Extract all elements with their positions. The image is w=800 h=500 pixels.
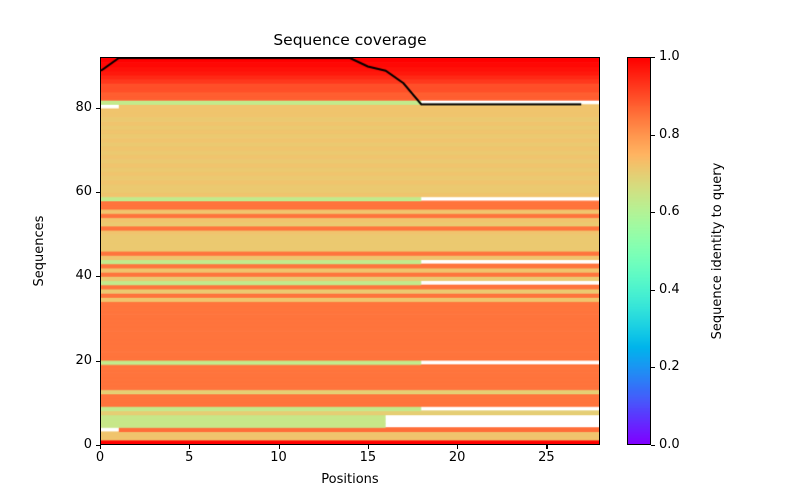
x-tick-mark (546, 445, 547, 449)
y-tick-label: 0 (56, 437, 92, 453)
x-tick-mark (457, 445, 458, 449)
x-tick-label: 20 (437, 450, 477, 466)
page-title: Sequence coverage (100, 30, 600, 50)
colorbar-tick-label: 0.4 (659, 282, 680, 298)
colorbar-tick-mark (651, 57, 655, 58)
x-tick-mark (368, 445, 369, 449)
y-tick-mark (96, 276, 100, 277)
y-tick-mark (96, 361, 100, 362)
x-tick-mark (279, 445, 280, 449)
colorbar-gradient (628, 58, 650, 444)
x-tick-label: 10 (259, 450, 299, 466)
y-axis-label: Sequences (32, 57, 48, 445)
colorbar-label: Sequence identity to query (710, 57, 726, 445)
colorbar-tick-label: 0.0 (659, 437, 680, 453)
colorbar-tick-label: 1.0 (659, 49, 680, 65)
x-tick-label: 15 (348, 450, 388, 466)
colorbar (627, 57, 651, 445)
y-tick-mark (96, 192, 100, 193)
colorbar-tick-mark (651, 290, 655, 291)
y-tick-mark (96, 445, 100, 446)
x-tick-label: 5 (169, 450, 209, 466)
x-tick-mark (189, 445, 190, 449)
coverage-line (101, 58, 599, 444)
y-tick-label: 40 (56, 268, 92, 284)
colorbar-tick-mark (651, 212, 655, 213)
colorbar-tick-mark (651, 367, 655, 368)
y-tick-label: 80 (56, 100, 92, 116)
colorbar-tick-label: 0.8 (659, 127, 680, 143)
matplotlib-figure: Sequence coverage Positions Sequences Se… (0, 0, 800, 500)
colorbar-tick-mark (651, 445, 655, 446)
x-tick-mark (100, 445, 101, 449)
colorbar-tick-mark (651, 135, 655, 136)
y-tick-label: 20 (56, 353, 92, 369)
y-tick-label: 60 (56, 184, 92, 200)
y-tick-mark (96, 108, 100, 109)
x-axis-label: Positions (100, 472, 600, 488)
heatmap-axes (100, 57, 600, 445)
colorbar-tick-label: 0.2 (659, 359, 680, 375)
x-tick-label: 25 (526, 450, 566, 466)
colorbar-tick-label: 0.6 (659, 204, 680, 220)
